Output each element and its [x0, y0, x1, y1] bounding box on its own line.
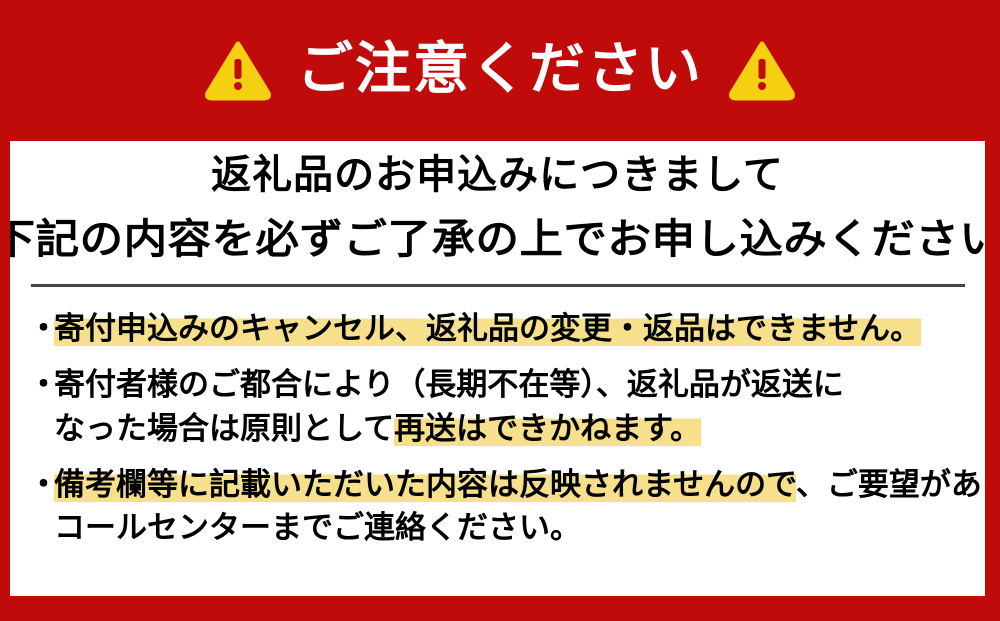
plain-text: なった場合は原則として [54, 411, 394, 446]
bullet-first-line: ・寄付者様のご都合により（長期不在等）、返礼品が返送に [28, 365, 985, 405]
plain-text: 、ご要望がある際は [796, 467, 985, 502]
bullet-marker: ・ [28, 309, 54, 349]
plain-text: コールセンターまでご連絡ください。 [54, 510, 581, 545]
bullet-marker: ・ [28, 365, 54, 405]
subtitle-line-2: 下記の内容を必ずご了承の上でお申し込みください [10, 219, 985, 260]
warning-triangle-icon-right [729, 41, 795, 101]
bullet-item: ・備考欄等に記載いただいた内容は反映されませんので、ご要望がある際はコールセンタ… [28, 465, 985, 549]
bullet-continuation-line: コールセンターまでご連絡ください。 [28, 508, 985, 548]
bullet-text: 寄付申込みのキャンセル、返礼品の変更・返品はできません。 [54, 309, 921, 349]
bullet-continuation-line: なった場合は原則として再送はできかねます。 [28, 409, 985, 449]
header-title: ご注意ください [297, 41, 703, 101]
warning-triangle-icon-left [205, 41, 271, 101]
bullet-first-line: ・寄付申込みのキャンセル、返礼品の変更・返品はできません。 [28, 309, 985, 349]
highlighted-text: 備考欄等に記載いただいた内容は反映されませんので [54, 467, 796, 502]
bullet-item: ・寄付者様のご都合により（長期不在等）、返礼品が返送になった場合は原則として再送… [28, 365, 985, 449]
notice-banner: ご注意ください 返礼品のお申込みにつきまして 下記の内容を必ずご了承の上でお申し… [0, 0, 1000, 621]
bullet-list: ・寄付申込みのキャンセル、返礼品の変更・返品はできません。・寄付者様のご都合によ… [10, 287, 985, 548]
bullet-text: 寄付者様のご都合により（長期不在等）、返礼品が返送に [54, 365, 844, 405]
bullet-text: なった場合は原則として再送はできかねます。 [54, 409, 701, 449]
content-panel: 返礼品のお申込みにつきまして 下記の内容を必ずご了承の上でお申し込みください ・… [10, 141, 985, 596]
plain-text: 寄付者様のご都合により（長期不在等）、返礼品が返送に [54, 367, 844, 402]
subtitle-block: 返礼品のお申込みにつきまして 下記の内容を必ずご了承の上でお申し込みください [10, 141, 985, 260]
bullet-text: 備考欄等に記載いただいた内容は反映されませんので、ご要望がある際は [54, 465, 985, 505]
highlighted-text: 再送はできかねます。 [394, 411, 701, 446]
bullet-text: コールセンターまでご連絡ください。 [54, 508, 581, 548]
bullet-marker: ・ [28, 465, 54, 505]
highlighted-text: 寄付申込みのキャンセル、返礼品の変更・返品はできません。 [54, 311, 921, 346]
header-band: ご注意ください [0, 0, 1000, 141]
bullet-first-line: ・備考欄等に記載いただいた内容は反映されませんので、ご要望がある際は [28, 465, 985, 505]
bullet-item: ・寄付申込みのキャンセル、返礼品の変更・返品はできません。 [28, 309, 985, 349]
subtitle-line-1: 返礼品のお申込みにつきまして [10, 155, 985, 195]
